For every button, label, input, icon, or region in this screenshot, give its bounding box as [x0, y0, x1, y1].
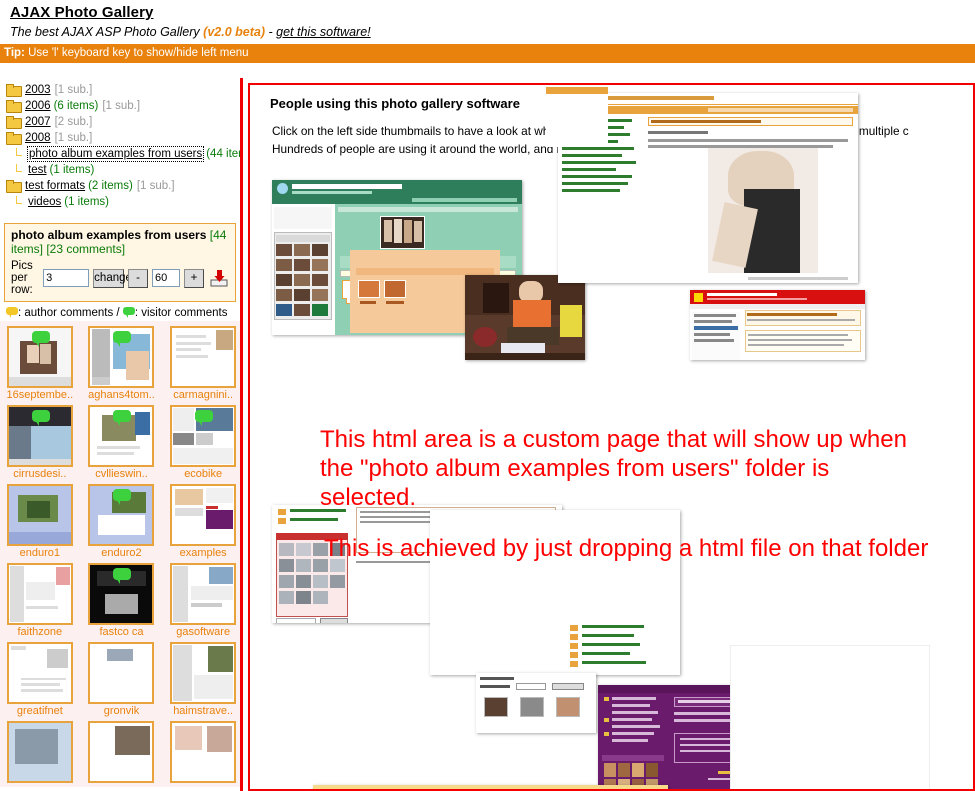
- collage-shot-musician-photo: [465, 275, 585, 360]
- tree-item-label[interactable]: test formats: [25, 179, 85, 193]
- pics-per-row-controls: Pics per row: change - +: [11, 260, 230, 296]
- tree-item-videos[interactable]: videos(1 items): [6, 194, 240, 210]
- tree-item-label[interactable]: 2006: [25, 99, 51, 113]
- thumbnail-image[interactable]: [7, 484, 73, 546]
- tree-item-label[interactable]: 2008: [25, 131, 51, 145]
- tree-item-count: (44 items): [206, 147, 243, 161]
- thumbnail-item[interactable]: greatifnet: [0, 639, 80, 717]
- version-badge: (v2.0 beta): [203, 25, 265, 39]
- tree-item-label[interactable]: videos: [28, 195, 61, 209]
- site-header: AJAX Photo Gallery The best AJAX ASP Pho…: [0, 0, 975, 39]
- thumbnail-image[interactable]: [7, 642, 73, 704]
- folder-icon[interactable]: [6, 132, 21, 144]
- thumbnail-image[interactable]: [170, 326, 236, 388]
- thumbnail-image[interactable]: [88, 405, 154, 467]
- tagline-text: The best AJAX ASP Photo Gallery: [10, 25, 200, 39]
- tree-item-2008[interactable]: 2008[1 sub.]: [6, 130, 240, 146]
- album-name: photo album examples from users: [11, 228, 206, 242]
- thumbnail-image[interactable]: [170, 721, 236, 783]
- thumbnail-item[interactable]: enduro1: [0, 481, 80, 559]
- tree-item-subs: [1 sub.]: [102, 99, 140, 113]
- thumbnail-image[interactable]: [170, 405, 236, 467]
- folder-tree: 2003[1 sub.]2006(6 items)[1 sub.]2007[2 …: [0, 78, 240, 210]
- thumbnail-item[interactable]: enduro2: [82, 481, 162, 559]
- thumbnail-image[interactable]: [170, 642, 236, 704]
- pics-per-row-input[interactable]: [43, 269, 89, 287]
- site-tagline: The best AJAX ASP Photo Gallery (v2.0 be…: [10, 25, 975, 39]
- thumbnail-image[interactable]: [88, 563, 154, 625]
- site-title[interactable]: AJAX Photo Gallery: [10, 4, 154, 21]
- tree-item-label[interactable]: test: [28, 163, 47, 177]
- folder-icon[interactable]: [6, 84, 21, 96]
- thumbnail-caption[interactable]: greatifnet: [2, 705, 78, 717]
- tagline-dash: -: [269, 25, 273, 39]
- thumbnail-caption[interactable]: cvllieswin..: [84, 468, 160, 480]
- thumbnail-caption[interactable]: ecobike: [165, 468, 241, 480]
- tree-elbow-icon: [13, 148, 26, 160]
- folder-icon[interactable]: [6, 116, 21, 128]
- thumbnail-item[interactable]: 16septembe..: [0, 323, 80, 401]
- thumbnail-item[interactable]: cvllieswin..: [82, 402, 162, 480]
- folder-icon[interactable]: [6, 100, 21, 112]
- tree-item-test-formats[interactable]: test formats(2 items)[1 sub.]: [6, 178, 240, 194]
- thumbnail-item[interactable]: faithzone: [0, 560, 80, 638]
- legend-author-text: : author comments /: [18, 307, 120, 319]
- thumbnail-image[interactable]: [88, 484, 154, 546]
- tree-item-subs: [2 sub.]: [55, 115, 93, 129]
- thumbnail-item[interactable]: fastco ca: [82, 560, 162, 638]
- thumbnail-item[interactable]: cirrusdesi..: [0, 402, 80, 480]
- tree-item-2003[interactable]: 2003[1 sub.]: [6, 82, 240, 98]
- thumbnail-item[interactable]: [82, 718, 162, 783]
- tree-item-count: (1 items): [64, 195, 109, 209]
- thumbnail-item[interactable]: haimstrave..: [163, 639, 243, 717]
- collage-shot-white-right-doc: [730, 645, 930, 791]
- visitor-comment-icon: [32, 410, 50, 422]
- visitor-comment-icon: [113, 489, 131, 501]
- thumbnail-caption[interactable]: aghans4tom..: [84, 389, 160, 401]
- thumbnail-image[interactable]: [7, 563, 73, 625]
- thumbnail-image[interactable]: [7, 405, 73, 467]
- tree-item-label[interactable]: photo album examples from users: [28, 147, 203, 161]
- thumbnail-caption[interactable]: examples: [165, 547, 241, 559]
- album-title: photo album examples from users [44 item…: [11, 228, 230, 256]
- album-info-panel: photo album examples from users [44 item…: [4, 223, 236, 302]
- decrease-size-button[interactable]: -: [128, 269, 148, 288]
- thumbnail-image[interactable]: [170, 484, 236, 546]
- tree-item-test[interactable]: test(1 items): [6, 162, 240, 178]
- thumbnail-image[interactable]: [88, 721, 154, 783]
- collage-shot-yellow-banner: [313, 785, 668, 791]
- tree-item-count: (2 items): [88, 179, 133, 193]
- tree-item-subs: [1 sub.]: [137, 179, 175, 193]
- tree-item-subs: [1 sub.]: [55, 83, 93, 97]
- increase-size-button[interactable]: +: [184, 269, 204, 288]
- visitor-comment-icon: [123, 307, 135, 318]
- thumbnail-caption[interactable]: faithzone: [2, 626, 78, 638]
- visitor-comment-icon: [195, 410, 213, 422]
- thumbnail-item[interactable]: [0, 718, 80, 783]
- visitor-comment-icon: [113, 568, 131, 580]
- red-annotation: This html area is a custom page that wil…: [320, 425, 930, 585]
- thumbnail-caption[interactable]: enduro1: [2, 547, 78, 559]
- thumbnail-caption[interactable]: carmagnini..: [165, 389, 241, 401]
- get-software-link[interactable]: get this software!: [276, 25, 371, 39]
- tree-item-2006[interactable]: 2006(6 items)[1 sub.]: [6, 98, 240, 114]
- visitor-comment-icon: [32, 331, 50, 343]
- tree-item-subs: [1 sub.]: [55, 131, 93, 145]
- collage-shot-orange-list: [546, 87, 608, 147]
- thumbnail-caption[interactable]: gronvik: [84, 705, 160, 717]
- thumbnail-caption[interactable]: cirrusdesi..: [2, 468, 78, 480]
- tree-item-label[interactable]: 2007: [25, 115, 51, 129]
- legend-visitor-text: : visitor comments: [135, 307, 228, 319]
- thumb-size-input[interactable]: [152, 269, 180, 287]
- visitor-comment-icon: [113, 331, 131, 343]
- annotation-line-2: This is achieved by just dropping a html…: [324, 534, 930, 563]
- change-button[interactable]: change: [93, 269, 124, 288]
- pics-per-row-label: Pics per row:: [11, 260, 39, 296]
- app-root: AJAX Photo Gallery The best AJAX ASP Pho…: [0, 0, 975, 791]
- thumbnail-image[interactable]: [170, 563, 236, 625]
- tip-bar: Tip: Use 'l' keyboard key to show/hide l…: [0, 44, 975, 63]
- thumbnail-grid: 16septembe..aghans4tom..carmagnini..cirr…: [0, 321, 243, 787]
- folder-icon[interactable]: [6, 180, 21, 192]
- thumbnail-caption[interactable]: gasoftware: [165, 626, 241, 638]
- thumbnail-item[interactable]: ecobike: [163, 402, 243, 480]
- tree-elbow-icon: [13, 164, 26, 176]
- thumbnail-item[interactable]: [163, 718, 243, 783]
- thumbnail-image[interactable]: [7, 721, 73, 783]
- visitor-comment-icon: [113, 410, 131, 422]
- tree-item-count: (6 items): [54, 99, 99, 113]
- annotation-line-1: This html area is a custom page that wil…: [320, 425, 930, 512]
- tip-label: Tip:: [4, 47, 25, 59]
- left-sidebar: 2003[1 sub.]2006(6 items)[1 sub.]2007[2 …: [0, 78, 243, 791]
- thumbnail-item[interactable]: carmagnini..: [163, 323, 243, 401]
- thumbnail-image[interactable]: [88, 642, 154, 704]
- thumbnail-image[interactable]: [88, 326, 154, 388]
- tip-text: Use 'l' keyboard key to show/hide left m…: [28, 47, 248, 59]
- thumbnail-item[interactable]: aghans4tom..: [82, 323, 162, 401]
- tree-item-photo-album-examples-from-users[interactable]: photo album examples from users(44 items…: [6, 146, 240, 162]
- thumbnail-item[interactable]: gronvik: [82, 639, 162, 717]
- collage-shot-red-header: [690, 290, 865, 360]
- tree-item-count: (1 items): [50, 163, 95, 177]
- tree-elbow-icon: [13, 196, 26, 208]
- author-comment-icon: [6, 307, 18, 318]
- thumbnail-caption[interactable]: haimstrave..: [165, 705, 241, 717]
- thumbnail-image[interactable]: [7, 326, 73, 388]
- thumbnail-caption[interactable]: 16septembe..: [2, 389, 78, 401]
- collage-shot-small-window: [476, 673, 596, 733]
- thumbnail-caption[interactable]: fastco ca: [84, 626, 160, 638]
- download-icon[interactable]: [208, 269, 230, 288]
- tree-item-2007[interactable]: 2007[2 sub.]: [6, 114, 240, 130]
- comments-legend: : author comments / : visitor comments: [0, 302, 240, 321]
- tree-item-label[interactable]: 2003: [25, 83, 51, 97]
- thumbnail-caption[interactable]: enduro2: [84, 547, 160, 559]
- thumbnail-item[interactable]: examples: [163, 481, 243, 559]
- thumbnail-item[interactable]: gasoftware: [163, 560, 243, 638]
- custom-html-content-area: People using this photo gallery software…: [248, 83, 975, 791]
